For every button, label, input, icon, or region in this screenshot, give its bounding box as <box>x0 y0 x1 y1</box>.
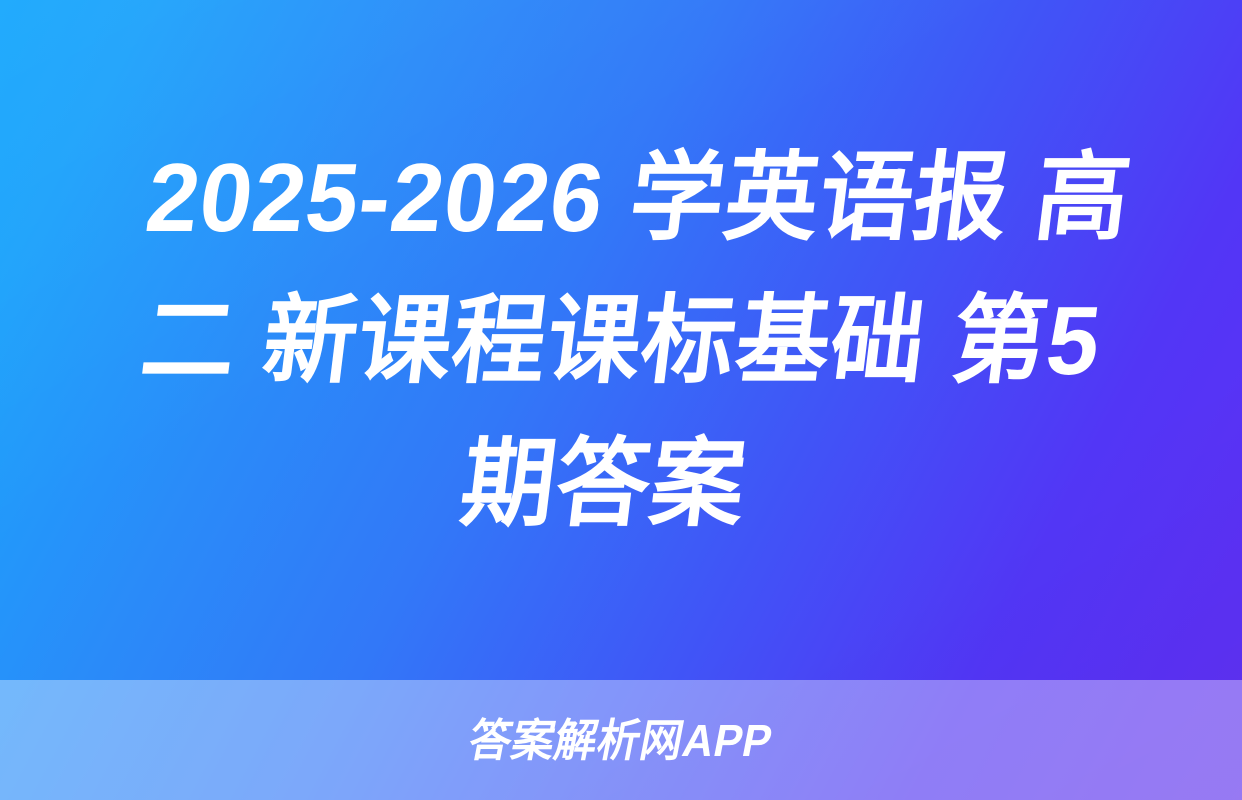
poster-card: 2025-2026 学英语报 高 二 新课程课标基础 第5 期答案 答案解析网A… <box>0 0 1242 800</box>
watermark-text: 答案解析网APP <box>466 718 777 763</box>
title-container: 2025-2026 学英语报 高 二 新课程课标基础 第5 期答案 <box>0 0 1242 680</box>
page-title: 2025-2026 学英语报 高 二 新课程课标基础 第5 期答案 <box>103 126 1139 555</box>
watermark-band: 答案解析网APP <box>0 680 1242 800</box>
